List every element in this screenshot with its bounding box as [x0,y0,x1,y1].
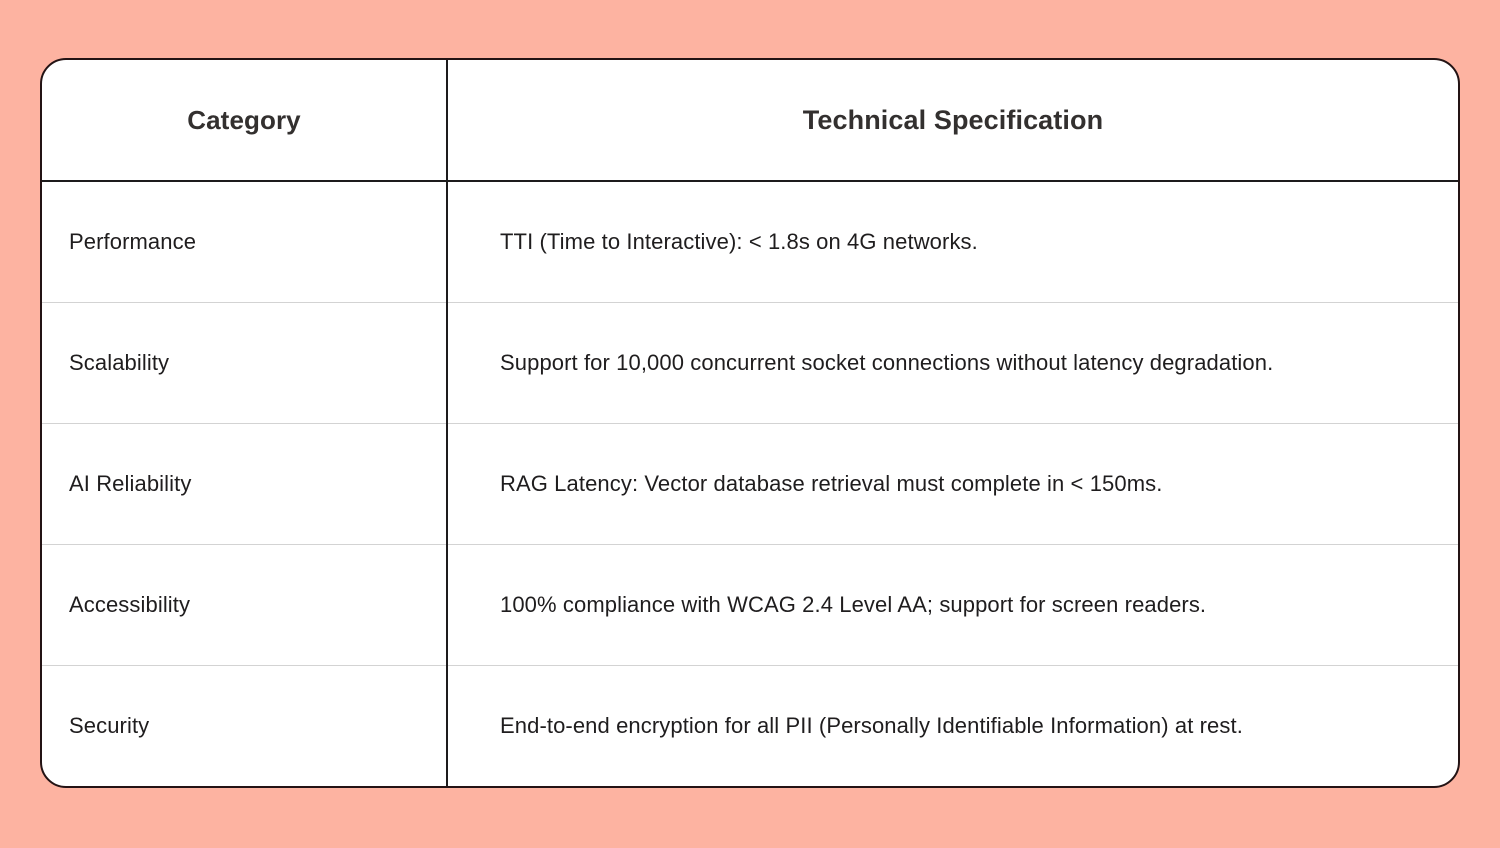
category-label: Performance [42,229,446,255]
spec-table-card: Category Technical Specification Perform… [40,58,1460,788]
cell-specification: 100% compliance with WCAG 2.4 Level AA; … [447,544,1458,665]
cell-category: Accessibility [42,544,447,665]
specification-label: 100% compliance with WCAG 2.4 Level AA; … [448,592,1458,618]
specification-label: End-to-end encryption for all PII (Perso… [448,713,1458,739]
cell-specification: Support for 10,000 concurrent socket con… [447,302,1458,423]
header-row: Category Technical Specification [42,60,1458,181]
technical-specification-table: Category Technical Specification Perform… [42,60,1458,786]
category-label: Scalability [42,350,446,376]
column-header-specification-label: Technical Specification [448,105,1458,136]
specification-label: Support for 10,000 concurrent socket con… [448,350,1458,376]
table-body: Performance TTI (Time to Interactive): <… [42,181,1458,786]
category-label: AI Reliability [42,471,446,497]
cell-category: Performance [42,181,447,302]
table-row: Scalability Support for 10,000 concurren… [42,302,1458,423]
specification-label: RAG Latency: Vector database retrieval m… [448,471,1458,497]
category-label: Accessibility [42,592,446,618]
cell-category: AI Reliability [42,423,447,544]
category-label: Security [42,713,446,739]
table-row: AI Reliability RAG Latency: Vector datab… [42,423,1458,544]
cell-category: Security [42,665,447,786]
cell-specification: End-to-end encryption for all PII (Perso… [447,665,1458,786]
column-header-specification: Technical Specification [447,60,1458,181]
column-header-category-label: Category [42,105,446,136]
page-background: Category Technical Specification Perform… [0,0,1500,848]
table-row: Performance TTI (Time to Interactive): <… [42,181,1458,302]
table-row: Accessibility 100% compliance with WCAG … [42,544,1458,665]
table-header: Category Technical Specification [42,60,1458,181]
column-header-category: Category [42,60,447,181]
cell-category: Scalability [42,302,447,423]
table-row: Security End-to-end encryption for all P… [42,665,1458,786]
cell-specification: RAG Latency: Vector database retrieval m… [447,423,1458,544]
specification-label: TTI (Time to Interactive): < 1.8s on 4G … [448,229,1458,255]
cell-specification: TTI (Time to Interactive): < 1.8s on 4G … [447,181,1458,302]
